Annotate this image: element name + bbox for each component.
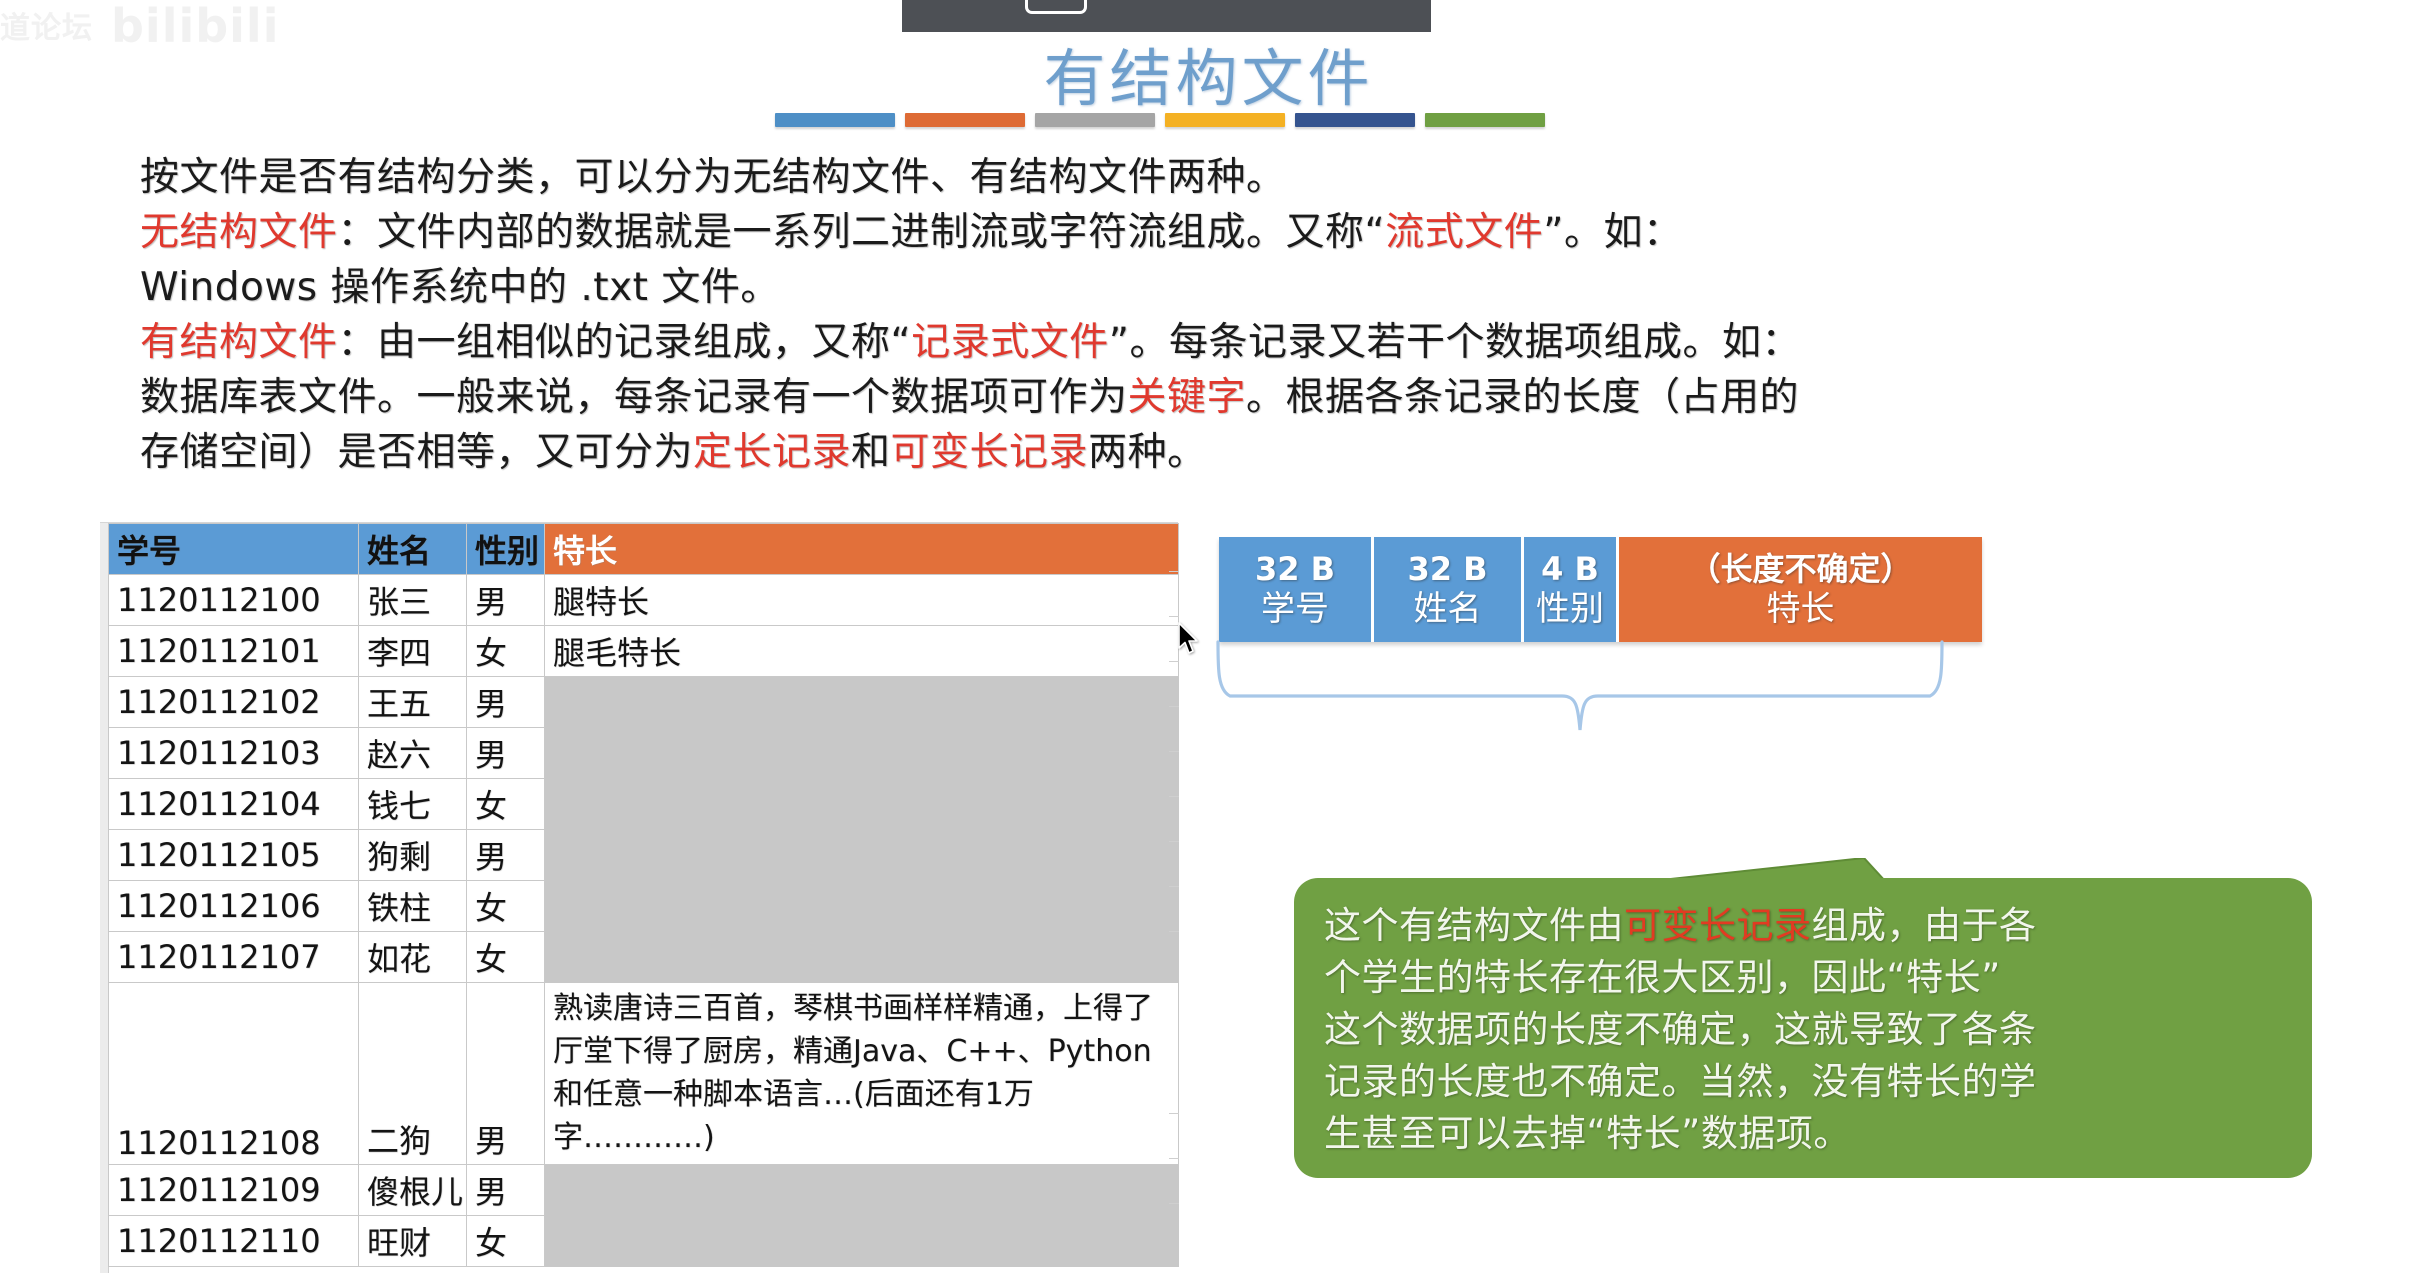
page-title: 有结构文件 — [0, 28, 2417, 118]
body-line-6-mid: 和 — [851, 430, 891, 475]
cell-skill-empty[interactable] — [545, 677, 1179, 728]
callout-line-4: 记录的长度也不确定。当然，没有特长的学 — [1324, 1056, 2282, 1108]
body-line-2b: ”。如： — [1543, 210, 1682, 255]
student-table-container[interactable]: 学号 姓名 性别 特长 1120112100 张三 男 腿特长 11201121… — [100, 522, 1178, 1273]
cell-sex[interactable]: 男 — [467, 1165, 545, 1216]
keyword-highlight: 关键字 — [1128, 375, 1247, 420]
cell-skill-empty[interactable] — [545, 932, 1179, 983]
callout-line-1: 这个有结构文件由可变长记录组成，由于各 — [1324, 900, 2282, 952]
structured-file-label: 有结构文件 — [140, 320, 338, 365]
table-row[interactable]: 1120112104 钱七 女 — [109, 779, 1179, 830]
cell-id[interactable]: 1120112108 — [109, 983, 359, 1165]
table-row[interactable]: 1120112110 旺财 女 — [109, 1216, 1179, 1267]
cell-name[interactable]: 张三 — [359, 575, 467, 626]
rule-swatch-5 — [1295, 113, 1415, 127]
cell-name[interactable]: 狗剩 — [359, 830, 467, 881]
table-row[interactable]: 1120112100 张三 男 腿特长 — [109, 575, 1179, 626]
title-color-rule — [775, 113, 1545, 127]
cell-id[interactable]: 1120112102 — [109, 677, 359, 728]
cell-id[interactable]: 1120112105 — [109, 830, 359, 881]
table-body: 1120112100 张三 男 腿特长 1120112101 李四 女 腿毛特长… — [109, 575, 1179, 1267]
table-row[interactable]: 1120112105 狗剩 男 — [109, 830, 1179, 881]
column-header-id[interactable]: 学号 — [109, 524, 359, 575]
record-field-name-name: 姓名 — [1414, 588, 1482, 630]
sheet-edge-ticks — [1169, 523, 1179, 1273]
cell-skill-empty[interactable] — [545, 881, 1179, 932]
callout-variable-length-highlight: 可变长记录 — [1624, 904, 1812, 947]
column-header-sex[interactable]: 性别 — [467, 524, 545, 575]
cell-name[interactable]: 傻根儿 — [359, 1165, 467, 1216]
cell-id[interactable]: 1120112109 — [109, 1165, 359, 1216]
table-header-row: 学号 姓名 性别 特长 — [109, 524, 1179, 575]
body-line-5a: 数据库表文件。一般来说，每条记录有一个数据项可作为 — [140, 375, 1128, 420]
cell-id[interactable]: 1120112103 — [109, 728, 359, 779]
table-row[interactable]: 1120112101 李四 女 腿毛特长 — [109, 626, 1179, 677]
cell-sex[interactable]: 女 — [467, 626, 545, 677]
body-line-2a: ：文件内部的数据就是一系列二进制流或字符流组成。又称“ — [338, 210, 1386, 255]
cell-id[interactable]: 1120112110 — [109, 1216, 359, 1267]
cell-sex[interactable]: 男 — [467, 983, 545, 1165]
body-line-5: 数据库表文件。一般来说，每条记录有一个数据项可作为关键字。根据各条记录的长度（占… — [140, 370, 2320, 425]
record-field-skill-name: 特长 — [1767, 588, 1835, 630]
rule-swatch-4 — [1165, 113, 1285, 127]
record-layout-diagram: 32 B 学号 32 B 姓名 4 B 性别 （长度不确定） 特长 — [1219, 537, 1982, 642]
student-table: 学号 姓名 性别 特长 1120112100 张三 男 腿特长 11201121… — [108, 523, 1179, 1267]
cell-skill-empty[interactable] — [545, 830, 1179, 881]
record-field-skill: （长度不确定） 特长 — [1619, 537, 1982, 642]
record-span-brace-icon — [1214, 640, 1954, 770]
cell-skill-empty[interactable] — [545, 728, 1179, 779]
column-header-skill[interactable]: 特长 — [545, 524, 1179, 575]
body-line-1: 按文件是否有结构分类，可以分为无结构文件、有结构文件两种。 — [140, 150, 2320, 205]
callout-line-1b: 组成，由于各 — [1812, 904, 2037, 947]
body-line-4: 有结构文件：由一组相似的记录组成，又称“记录式文件”。每条记录又若干个数据项组成… — [140, 315, 2320, 370]
table-row[interactable]: 1120112106 铁柱 女 — [109, 881, 1179, 932]
cell-id[interactable]: 1120112100 — [109, 575, 359, 626]
body-line-1-text: 按文件是否有结构分类，可以分为无结构文件、有结构文件两种。 — [140, 155, 1286, 200]
record-field-sex-name: 性别 — [1536, 588, 1604, 630]
column-header-name[interactable]: 姓名 — [359, 524, 467, 575]
callout-line-1a: 这个有结构文件由 — [1324, 904, 1624, 947]
cell-skill[interactable]: 腿毛特长 — [545, 626, 1179, 677]
table-row[interactable]: 1120112109 傻根儿 男 — [109, 1165, 1179, 1216]
stream-file-highlight: 流式文件 — [1385, 210, 1543, 255]
cell-sex[interactable]: 男 — [467, 728, 545, 779]
cell-id[interactable]: 1120112107 — [109, 932, 359, 983]
rule-swatch-2 — [905, 113, 1025, 127]
cell-sex[interactable]: 女 — [467, 932, 545, 983]
body-line-3: Windows 操作系统中的 .txt 文件。 — [140, 260, 2320, 315]
record-file-highlight: 记录式文件 — [911, 320, 1109, 365]
variable-length-highlight: 可变长记录 — [891, 430, 1089, 475]
record-field-id: 32 B 学号 — [1219, 537, 1374, 642]
cell-name[interactable]: 铁柱 — [359, 881, 467, 932]
cell-skill-long[interactable]: 熟读唐诗三百首，琴棋书画样样精通，上得了厅堂下得了厨房，精通Java、C++、P… — [545, 983, 1179, 1165]
body-line-3-text: Windows 操作系统中的 .txt 文件。 — [140, 265, 780, 310]
body-line-6b: 两种。 — [1088, 430, 1207, 475]
cell-name[interactable]: 赵六 — [359, 728, 467, 779]
cell-name[interactable]: 旺财 — [359, 1216, 467, 1267]
record-field-sex-size: 4 B — [1541, 550, 1599, 588]
toolbar-highlight-button[interactable] — [1025, 0, 1087, 14]
cell-sex[interactable]: 女 — [467, 881, 545, 932]
cell-skill-empty[interactable] — [545, 1216, 1179, 1267]
rule-swatch-6 — [1425, 113, 1545, 127]
callout-line-2: 个学生的特长存在很大区别，因此“特长” — [1324, 952, 2282, 1004]
record-field-sex: 4 B 性别 — [1524, 537, 1619, 642]
body-line-6: 存储空间）是否相等，又可分为定长记录和可变长记录两种。 — [140, 425, 2320, 480]
record-field-id-name: 学号 — [1261, 588, 1329, 630]
unstructured-file-label: 无结构文件 — [140, 210, 338, 255]
slide-body-text: 按文件是否有结构分类，可以分为无结构文件、有结构文件两种。 无结构文件：文件内部… — [140, 150, 2320, 480]
cell-skill-empty[interactable] — [545, 779, 1179, 830]
fixed-length-highlight: 定长记录 — [693, 430, 851, 475]
callout-line-5: 生甚至可以去掉“特长”数据项。 — [1324, 1108, 2282, 1160]
explanation-callout: 这个有结构文件由可变长记录组成，由于各 个学生的特长存在很大区别，因此“特长” … — [1294, 858, 2312, 1178]
cell-id[interactable]: 1120112106 — [109, 881, 359, 932]
body-line-4b: ”。每条记录又若干个数据项组成。如： — [1109, 320, 1801, 365]
cell-sex[interactable]: 男 — [467, 677, 545, 728]
cell-name[interactable]: 李四 — [359, 626, 467, 677]
body-line-5b: 。根据各条记录的长度（占用的 — [1246, 375, 1799, 420]
rule-swatch-1 — [775, 113, 895, 127]
callout-line-3: 这个数据项的长度不确定，这就导致了各条 — [1324, 1004, 2282, 1056]
table-row[interactable]: 1120112108 二狗 男 熟读唐诗三百首，琴棋书画样样精通，上得了厅堂下得… — [109, 983, 1179, 1165]
cell-skill-empty[interactable] — [545, 1165, 1179, 1216]
cell-sex[interactable]: 男 — [467, 575, 545, 626]
record-field-name-size: 32 B — [1407, 550, 1487, 588]
rule-swatch-3 — [1035, 113, 1155, 127]
cell-name[interactable]: 钱七 — [359, 779, 467, 830]
mouse-cursor-icon — [1178, 622, 1200, 656]
body-line-6a: 存储空间）是否相等，又可分为 — [140, 430, 693, 475]
cell-name[interactable]: 王五 — [359, 677, 467, 728]
cell-skill[interactable]: 腿特长 — [545, 575, 1179, 626]
cell-sex[interactable]: 女 — [467, 779, 545, 830]
record-field-skill-size: （长度不确定） — [1688, 550, 1912, 588]
cell-id[interactable]: 1120112104 — [109, 779, 359, 830]
callout-body: 这个有结构文件由可变长记录组成，由于各 个学生的特长存在很大区别，因此“特长” … — [1294, 878, 2312, 1178]
cell-name[interactable]: 二狗 — [359, 983, 467, 1165]
cell-id[interactable]: 1120112101 — [109, 626, 359, 677]
record-field-name: 32 B 姓名 — [1374, 537, 1524, 642]
table-row[interactable]: 1120112103 赵六 男 — [109, 728, 1179, 779]
record-field-id-size: 32 B — [1255, 550, 1335, 588]
body-line-2: 无结构文件：文件内部的数据就是一系列二进制流或字符流组成。又称“流式文件”。如： — [140, 205, 2320, 260]
body-line-4a: ：由一组相似的记录组成，又称“ — [338, 320, 912, 365]
table-row[interactable]: 1120112102 王五 男 — [109, 677, 1179, 728]
cell-name[interactable]: 如花 — [359, 932, 467, 983]
table-row[interactable]: 1120112107 如花 女 — [109, 932, 1179, 983]
cell-sex[interactable]: 女 — [467, 1216, 545, 1267]
cell-sex[interactable]: 男 — [467, 830, 545, 881]
